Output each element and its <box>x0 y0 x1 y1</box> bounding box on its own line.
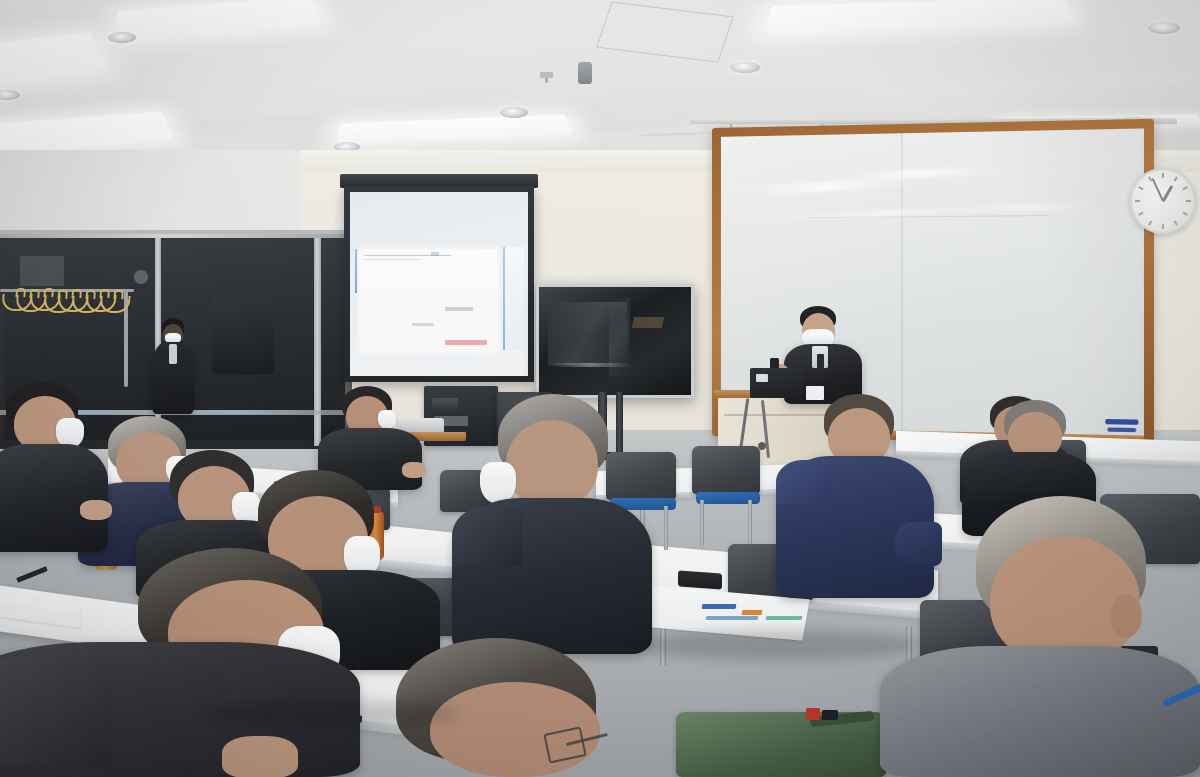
handout-graphic <box>706 616 759 620</box>
ceiling-light-panel <box>0 112 174 155</box>
ear <box>1110 594 1142 638</box>
flat-panel-display[interactable] <box>536 284 694 398</box>
slide-highlight-bar <box>445 340 487 345</box>
clock-minute-hand <box>1152 178 1164 202</box>
downlight <box>500 107 528 118</box>
marker-icon[interactable] <box>1107 427 1136 432</box>
sprinkler-head <box>540 72 553 78</box>
projected-slide <box>359 249 498 352</box>
downlight <box>1148 22 1180 34</box>
torso <box>0 444 108 552</box>
ceiling-light-panel <box>117 0 322 40</box>
equipment-case <box>678 570 722 589</box>
ceiling-hatch <box>596 1 734 62</box>
tv-reflection-glare <box>548 363 633 367</box>
seminar-room-photograph <box>0 0 1200 777</box>
projection-screen-surface <box>350 192 528 376</box>
attendee-right-grey-tweed <box>880 496 1200 777</box>
slide-side-panel <box>505 247 525 350</box>
slide-text-block <box>412 323 434 326</box>
torso <box>880 646 1200 777</box>
projection-screen <box>344 186 534 382</box>
shoulder <box>452 506 522 566</box>
ceiling-speaker <box>578 62 592 84</box>
necktie <box>817 354 824 372</box>
attendee-center-silver-hair <box>452 394 652 654</box>
hand <box>222 736 298 777</box>
shoulder <box>776 460 830 504</box>
attendee-left-front-row-1 <box>0 382 114 552</box>
slide-tab <box>431 252 439 256</box>
head <box>506 420 598 508</box>
adjacent-room-monitor <box>212 298 274 374</box>
handout-graphic <box>742 610 763 615</box>
downlight <box>730 62 760 73</box>
downlight <box>0 90 20 100</box>
chair[interactable] <box>692 446 760 494</box>
bag-buckle <box>822 710 838 720</box>
hand <box>80 500 112 520</box>
slide-text-block <box>445 307 473 311</box>
wall-clock <box>1130 168 1196 234</box>
shirt <box>169 344 177 364</box>
bag-buckle <box>806 708 820 720</box>
handout-graphic <box>702 604 737 609</box>
tv-reflection-hanger <box>632 317 665 328</box>
ceiling-light-panel <box>0 32 106 87</box>
handout-graphic <box>766 616 803 620</box>
face-mask <box>378 410 396 429</box>
ceiling-light-panel <box>766 0 1072 32</box>
shoulder <box>0 656 110 766</box>
adjacent-room-wallclock <box>134 270 148 284</box>
eraser-icon[interactable] <box>1105 419 1138 425</box>
adjacent-room-whiteboard <box>20 256 64 286</box>
attendee-foreground-pinstripe <box>0 556 380 777</box>
attendee-standing-behind-glass <box>150 318 196 414</box>
laptop-label <box>756 374 768 382</box>
downlight <box>108 32 136 43</box>
